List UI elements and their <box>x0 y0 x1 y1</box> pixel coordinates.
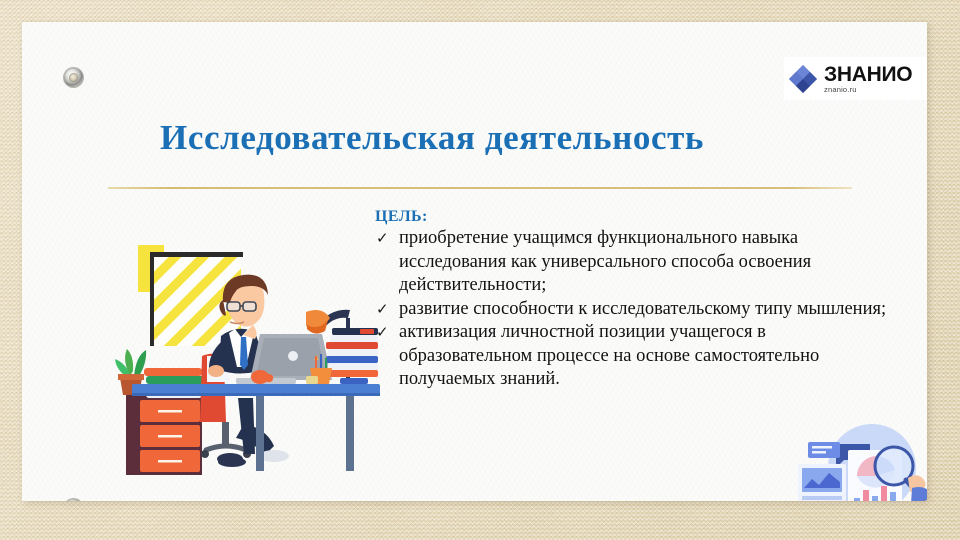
goal-list: ✓ приобретение учащимся функционального … <box>375 227 895 392</box>
logo-wordmark: ЗНАНИО <box>824 64 912 85</box>
logo-domain: znanio.ru <box>824 86 912 94</box>
man-working-at-desk-illustration <box>110 228 385 478</box>
diamond-icon <box>788 64 818 94</box>
page-title: Исследовательская деятельность <box>160 118 704 158</box>
goal-heading: ЦЕЛЬ: <box>375 208 895 226</box>
list-item: ✓ активизация личностной позиции учащего… <box>375 321 895 392</box>
list-item-text: приобретение учащимся функционального на… <box>399 228 811 295</box>
slide-canvas: Исследовательская деятельность ЦЕЛЬ: ✓ п… <box>22 22 927 501</box>
title-divider <box>108 187 852 189</box>
list-item-text: активизация личностной позиции учащегося… <box>399 322 819 389</box>
grommet-icon <box>64 68 83 87</box>
data-analysis-magnifier-illustration <box>790 420 927 501</box>
brand-logo[interactable]: ЗНАНИО znanio.ru <box>784 57 927 100</box>
goal-block: ЦЕЛЬ: ✓ приобретение учащимся функционал… <box>375 208 895 392</box>
grommet-icon <box>64 499 83 501</box>
list-item-text: развитие способности к исследовательском… <box>399 299 886 319</box>
list-item: ✓ приобретение учащимся функционального … <box>375 227 895 298</box>
list-item: ✓ развитие способности к исследовательск… <box>375 298 895 322</box>
